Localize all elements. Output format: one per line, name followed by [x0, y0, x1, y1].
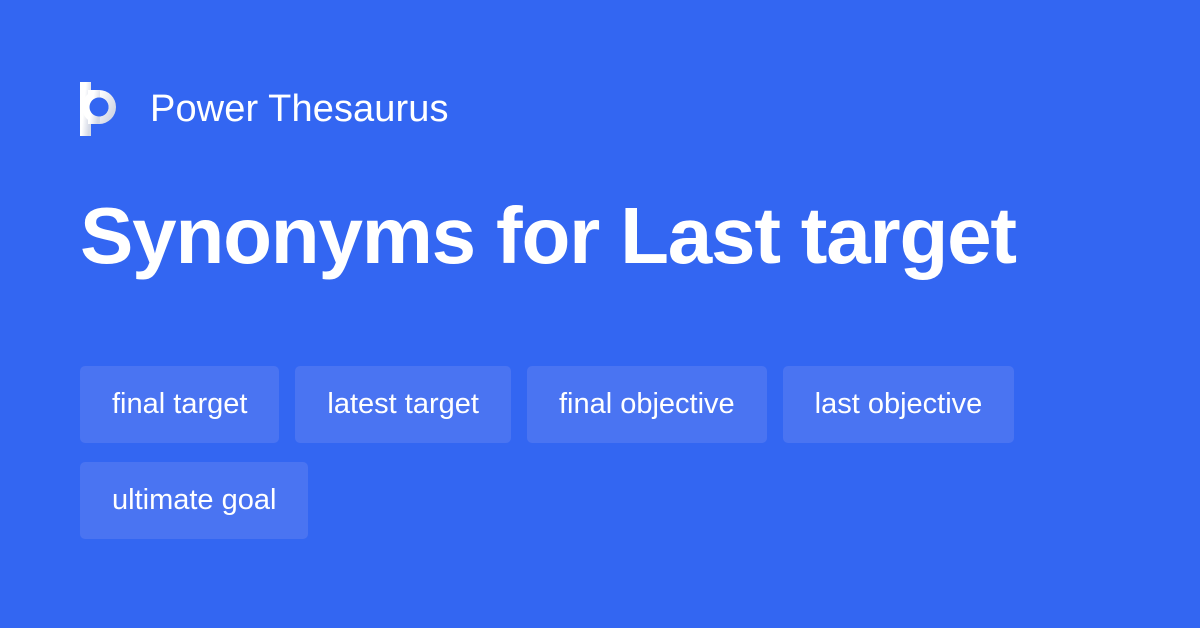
brand-name: Power Thesaurus [150, 90, 449, 128]
share-card: Power Thesaurus Synonyms for Last target… [0, 0, 1200, 628]
synonym-chip[interactable]: latest target [295, 366, 511, 443]
synonym-chip-list: final target latest target final objecti… [80, 366, 1120, 539]
page-title: Synonyms for Last target [80, 196, 1016, 276]
brand-logo[interactable]: Power Thesaurus [80, 82, 449, 136]
synonym-chip[interactable]: last objective [783, 366, 1015, 443]
power-thesaurus-b-logo-icon [80, 82, 124, 136]
synonym-chip[interactable]: final objective [527, 366, 767, 443]
synonym-chip[interactable]: final target [80, 366, 279, 443]
synonym-chip[interactable]: ultimate goal [80, 462, 308, 539]
